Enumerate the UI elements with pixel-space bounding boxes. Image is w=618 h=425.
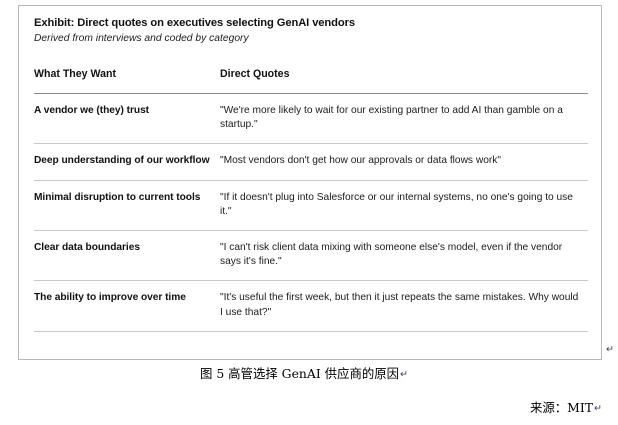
- cell-direct-quote: "I can't risk client data mixing with so…: [220, 231, 588, 281]
- exhibit-title: Exhibit: Direct quotes on executives sel…: [34, 16, 587, 31]
- cell-what-they-want: A vendor we (they) trust: [34, 94, 220, 144]
- cell-direct-quote: "We're more likely to wait for our exist…: [220, 94, 588, 144]
- table-header-row: What They Want Direct Quotes: [34, 68, 588, 94]
- column-header-direct-quotes: Direct Quotes: [220, 68, 588, 94]
- source-line: 来源：MIT↵: [530, 398, 602, 416]
- cell-direct-quote: "If it doesn't plug into Salesforce or o…: [220, 180, 588, 230]
- quotes-table: What They Want Direct Quotes A vendor we…: [34, 68, 588, 332]
- figure-caption: 图 5 高管选择 GenAI 供应商的原因↵: [0, 364, 608, 382]
- cell-what-they-want: The ability to improve over time: [34, 281, 220, 331]
- table-row: The ability to improve over time "It's u…: [34, 281, 588, 331]
- cell-direct-quote: "It's useful the first week, but then it…: [220, 281, 588, 331]
- table-row: Clear data boundaries "I can't risk clie…: [34, 231, 588, 281]
- exhibit-inner: Exhibit: Direct quotes on executives sel…: [19, 6, 601, 332]
- paragraph-return-mark-caption: ↵: [400, 369, 408, 380]
- figure-caption-text: 图 5 高管选择 GenAI 供应商的原因: [200, 366, 399, 381]
- table-row: Deep understanding of our workflow "Most…: [34, 144, 588, 180]
- column-header-what-they-want: What They Want: [34, 68, 220, 94]
- cell-what-they-want: Deep understanding of our workflow: [34, 144, 220, 180]
- paragraph-return-mark-box: ↵: [606, 344, 614, 355]
- source-text: 来源：MIT: [530, 400, 593, 415]
- table-header: What They Want Direct Quotes: [34, 68, 588, 94]
- table-row: A vendor we (they) trust "We're more lik…: [34, 94, 588, 144]
- cell-direct-quote: "Most vendors don't get how our approval…: [220, 144, 588, 180]
- cell-what-they-want: Minimal disruption to current tools: [34, 180, 220, 230]
- paragraph-return-mark-source: ↵: [594, 403, 602, 414]
- exhibit-box: Exhibit: Direct quotes on executives sel…: [18, 5, 602, 360]
- table-row: Minimal disruption to current tools "If …: [34, 180, 588, 230]
- exhibit-subtitle: Derived from interviews and coded by cat…: [34, 32, 587, 46]
- cell-what-they-want: Clear data boundaries: [34, 231, 220, 281]
- table-body: A vendor we (they) trust "We're more lik…: [34, 94, 588, 332]
